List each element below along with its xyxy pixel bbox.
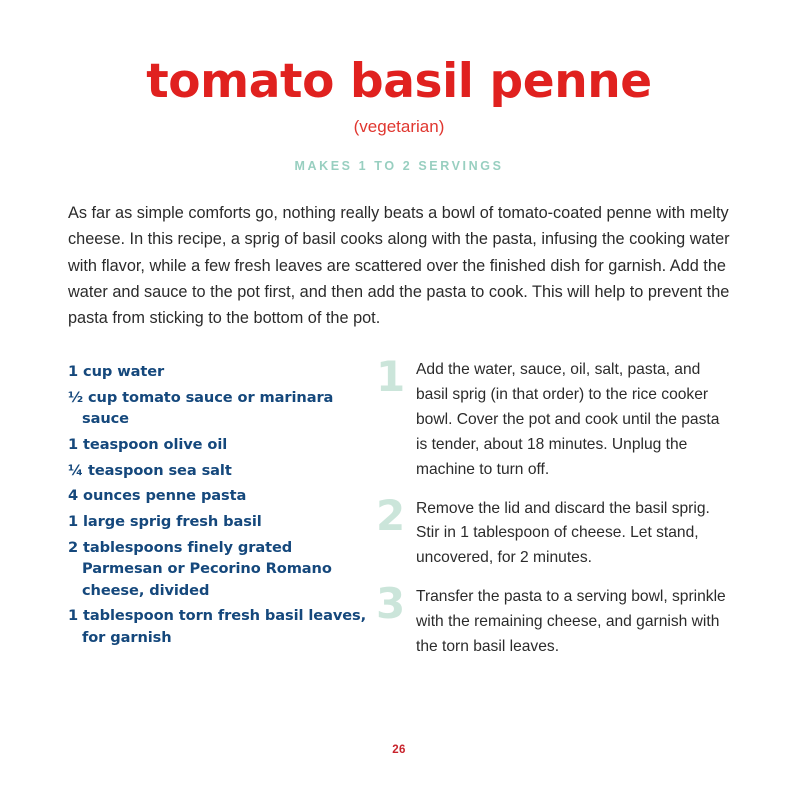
list-item: 3 Transfer the pasta to a serving bowl, … xyxy=(376,584,734,660)
recipe-header: tomato basil penne (vegetarian) MAKES 1 … xyxy=(0,0,798,173)
step-number: 1 xyxy=(376,357,416,395)
step-text: Remove the lid and discard the basil spr… xyxy=(416,496,734,572)
list-item: 2 tablespoons finely grated Parmesan or … xyxy=(68,537,368,601)
list-item: ¼ teaspoon sea salt xyxy=(68,460,368,481)
page-title: tomato basil penne xyxy=(0,58,798,107)
list-item: ½ cup tomato sauce or marinara sauce xyxy=(68,387,368,430)
servings-label: MAKES 1 TO 2 SERVINGS xyxy=(0,159,798,173)
recipe-body: 1 cup water ½ cup tomato sauce or marina… xyxy=(0,357,798,673)
step-number: 2 xyxy=(376,496,416,534)
list-item: 1 teaspoon olive oil xyxy=(68,434,368,455)
list-item: 1 cup water xyxy=(68,361,368,382)
step-number: 3 xyxy=(376,584,416,622)
ingredients-list: 1 cup water ½ cup tomato sauce or marina… xyxy=(68,357,368,653)
dietary-label: (vegetarian) xyxy=(0,117,798,137)
step-text: Add the water, sauce, oil, salt, pasta, … xyxy=(416,357,734,483)
list-item: 1 Add the water, sauce, oil, salt, pasta… xyxy=(376,357,734,483)
step-text: Transfer the pasta to a serving bowl, sp… xyxy=(416,584,734,660)
list-item: 4 ounces penne pasta xyxy=(68,485,368,506)
intro-paragraph: As far as simple comforts go, nothing re… xyxy=(68,200,730,332)
list-item: 2 Remove the lid and discard the basil s… xyxy=(376,496,734,572)
list-item: 1 large sprig fresh basil xyxy=(68,511,368,532)
recipe-page: tomato basil penne (vegetarian) MAKES 1 … xyxy=(0,0,798,800)
page-number: 26 xyxy=(0,744,798,756)
directions-list: 1 Add the water, sauce, oil, salt, pasta… xyxy=(368,357,734,673)
list-item: 1 tablespoon torn fresh basil leaves, fo… xyxy=(68,605,368,648)
